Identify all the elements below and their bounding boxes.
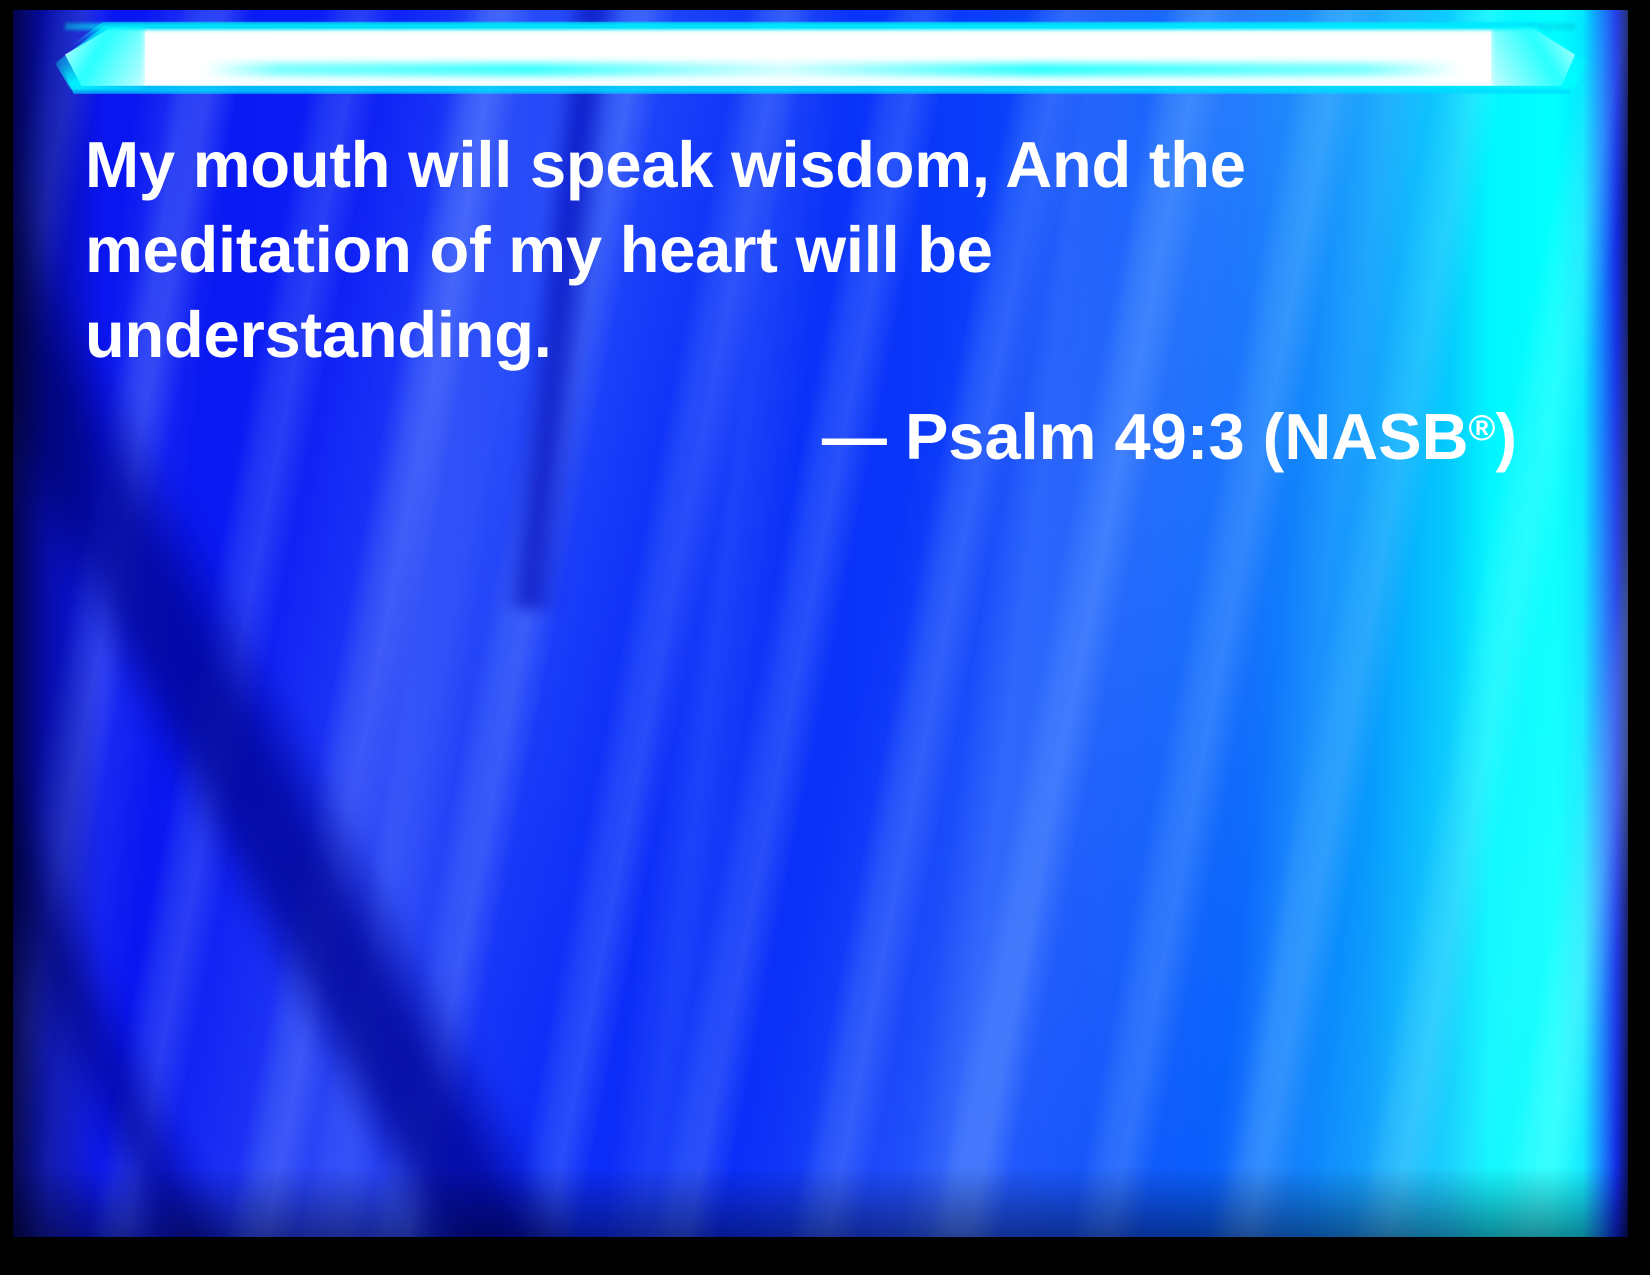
- attribution-dash: —: [822, 400, 887, 473]
- top-banner: [65, 28, 1575, 86]
- verse-slide: My mouth will speak wisdom, And the medi…: [0, 0, 1650, 1275]
- verse-line-1: My mouth will speak wisdom, And the: [85, 122, 1575, 207]
- verse-line-3: understanding.: [85, 292, 1575, 377]
- attribution-open-paren: (: [1263, 400, 1285, 473]
- attribution-translation: NASB: [1284, 400, 1468, 473]
- attribution: — Psalm 49:3 (NASB®): [822, 400, 1517, 473]
- attribution-close-paren: ): [1495, 400, 1517, 473]
- registered-trademark-icon: ®: [1469, 407, 1496, 448]
- attribution-space-1: [887, 400, 905, 473]
- top-banner-inner-cyan-streak: [203, 63, 1463, 76]
- attribution-space-2: [1245, 400, 1263, 473]
- background-bottom-vignette: [13, 1167, 1628, 1237]
- verse-text-block: My mouth will speak wisdom, And the medi…: [85, 122, 1575, 377]
- slide-artboard: My mouth will speak wisdom, And the medi…: [13, 10, 1628, 1237]
- attribution-row: — Psalm 49:3 (NASB®): [85, 386, 1517, 479]
- verse-line-2: meditation of my heart will be: [85, 207, 1575, 292]
- top-banner-top-edge: [65, 23, 1575, 30]
- attribution-reference: Psalm 49:3: [905, 400, 1245, 473]
